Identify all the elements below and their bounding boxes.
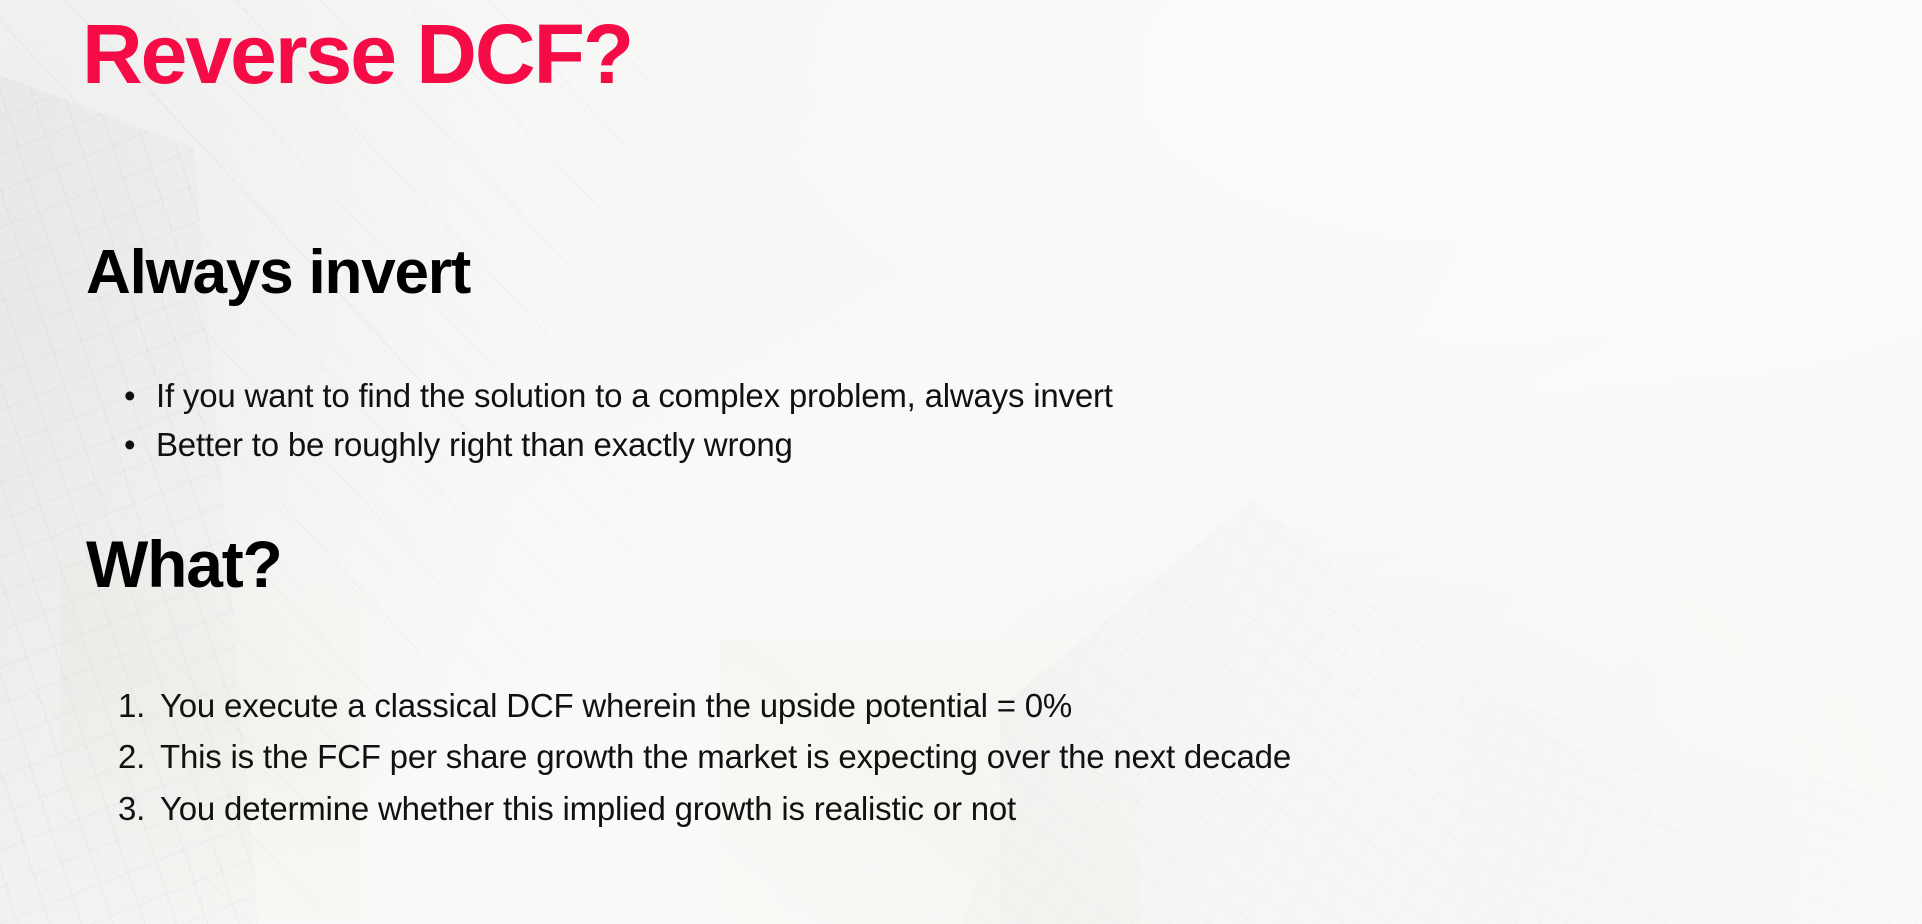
section-heading-always-invert: Always invert bbox=[86, 240, 470, 305]
list-item-text: You execute a classical DCF wherein the … bbox=[160, 680, 1072, 731]
slide-title: Reverse DCF? bbox=[82, 10, 632, 98]
bullet-dot-icon: • bbox=[124, 421, 135, 470]
slide-content: Reverse DCF? Always invert • If you want… bbox=[0, 0, 1922, 924]
list-item: 1. You execute a classical DCF wherein t… bbox=[118, 680, 1291, 731]
section-heading-what: What? bbox=[86, 530, 282, 599]
what-numbered-list: 1. You execute a classical DCF wherein t… bbox=[118, 680, 1291, 834]
list-item-text: Better to be roughly right than exactly … bbox=[156, 426, 793, 463]
presentation-slide: Reverse DCF? Always invert • If you want… bbox=[0, 0, 1922, 924]
list-item: 2. This is the FCF per share growth the … bbox=[118, 731, 1291, 782]
list-item: • If you want to find the solution to a … bbox=[156, 372, 1113, 421]
bullet-dot-icon: • bbox=[124, 372, 135, 421]
always-invert-bullet-list: • If you want to find the solution to a … bbox=[104, 372, 1113, 470]
list-item-number: 3. bbox=[118, 783, 160, 834]
list-item: • Better to be roughly right than exactl… bbox=[156, 421, 1113, 470]
list-item-number: 1. bbox=[118, 680, 160, 731]
list-item-text: This is the FCF per share growth the mar… bbox=[160, 731, 1291, 782]
list-item-text: If you want to find the solution to a co… bbox=[156, 377, 1113, 414]
list-item-text: You determine whether this implied growt… bbox=[160, 783, 1016, 834]
list-item: 3. You determine whether this implied gr… bbox=[118, 783, 1291, 834]
list-item-number: 2. bbox=[118, 731, 160, 782]
